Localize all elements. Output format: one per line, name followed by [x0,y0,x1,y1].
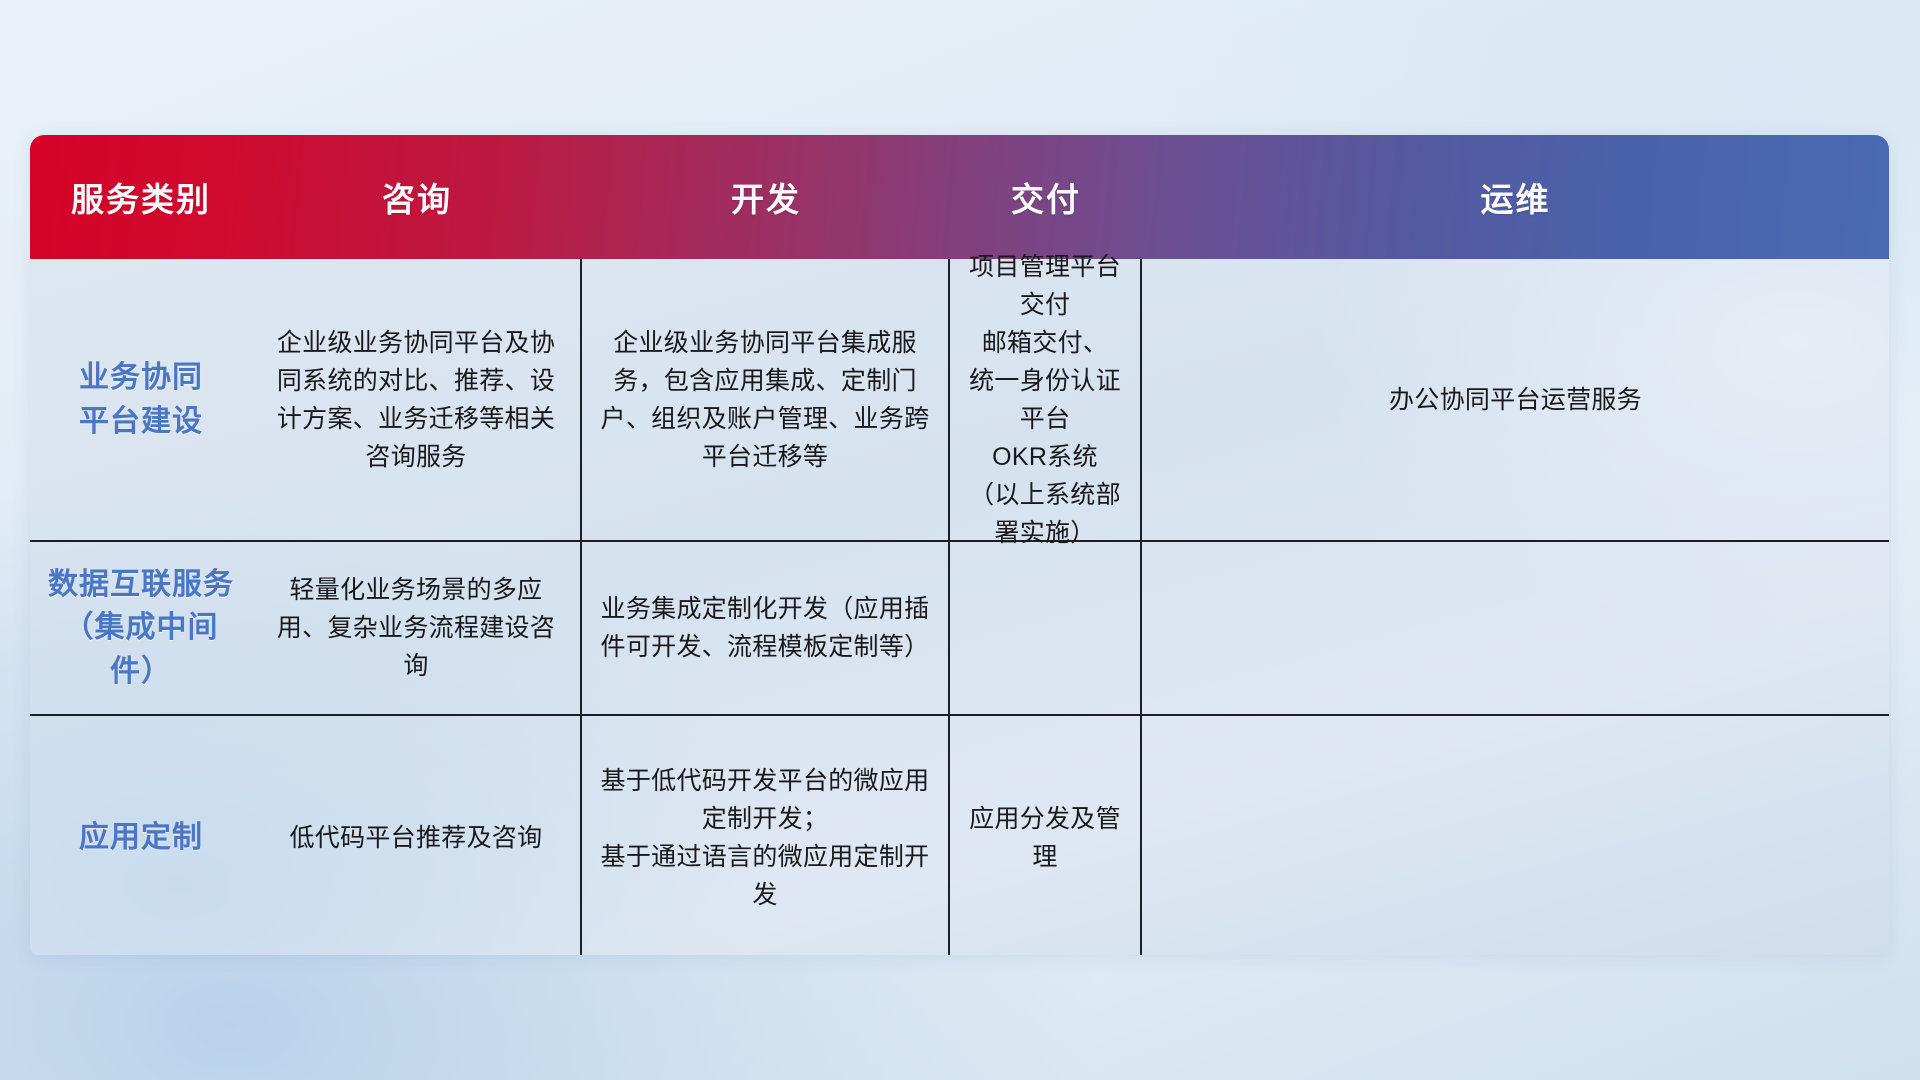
cell-text: 项目管理平台交付 邮箱交付、 统一身份认证平台 OKR系统 （以上系统部署实施） [964,248,1126,552]
cell-operations: 办公协同平台运营服务 [1142,259,1889,540]
cell-operations [1142,542,1889,714]
cell-text: 企业级业务协同平台及协同系统的对比、推荐、设计方案、业务迁移等相关咨询服务 [266,324,566,476]
cell-development: 基于低代码开发平台的微应用定制开发； 基于通过语言的微应用定制开发 [582,716,950,955]
row-label-business-collaboration: 业务协同 平台建设 [79,356,203,443]
cell-text: 办公协同平台运营服务 [1389,381,1642,419]
cell-text: 低代码平台推荐及咨询 [289,819,542,857]
table-body: 业务协同 平台建设 企业级业务协同平台及协同系统的对比、推荐、设计方案、业务迁移… [30,259,1889,955]
row-label-cell: 业务协同 平台建设 [30,259,252,540]
table-row: 数据互联服务 （集成中间件） 轻量化业务场景的多应用、复杂业务流程建设咨询 业务… [30,542,1889,716]
service-matrix-table: 服务类别 咨询 开发 交付 运维 业务协同 平台建设 企业级业务协同平台及协同系… [30,135,1889,955]
table-header-row: 服务类别 咨询 开发 交付 运维 [30,135,1889,259]
slide-canvas: 服务类别 咨询 开发 交付 运维 业务协同 平台建设 企业级业务协同平台及协同系… [0,0,1920,1080]
cell-development: 业务集成定制化开发（应用插件可开发、流程模板定制等） [582,542,950,714]
column-header-service-category: 服务类别 [30,173,252,221]
cell-text: 应用分发及管理 [964,800,1126,876]
cell-delivery: 项目管理平台交付 邮箱交付、 统一身份认证平台 OKR系统 （以上系统部署实施） [950,259,1142,540]
cell-consulting: 轻量化业务场景的多应用、复杂业务流程建设咨询 [252,542,582,714]
cell-development: 企业级业务协同平台集成服务，包含应用集成、定制门户、组织及账户管理、业务跨平台迁… [582,259,950,540]
cell-consulting: 低代码平台推荐及咨询 [252,716,582,955]
row-label-cell: 应用定制 [30,716,252,955]
cell-text: 业务集成定制化开发（应用插件可开发、流程模板定制等） [596,590,934,666]
table-row: 应用定制 低代码平台推荐及咨询 基于低代码开发平台的微应用定制开发； 基于通过语… [30,716,1889,955]
cell-operations [1142,716,1889,955]
cell-delivery [950,542,1142,714]
table-row: 业务协同 平台建设 企业级业务协同平台及协同系统的对比、推荐、设计方案、业务迁移… [30,259,1889,542]
column-header-delivery: 交付 [950,173,1142,221]
row-label-cell: 数据互联服务 （集成中间件） [30,542,252,714]
column-header-development: 开发 [582,173,950,221]
row-label-app-customization: 应用定制 [79,816,203,860]
cell-text: 轻量化业务场景的多应用、复杂业务流程建设咨询 [266,571,566,685]
cell-consulting: 企业级业务协同平台及协同系统的对比、推荐、设计方案、业务迁移等相关咨询服务 [252,259,582,540]
cell-text: 企业级业务协同平台集成服务，包含应用集成、定制门户、组织及账户管理、业务跨平台迁… [596,324,934,476]
column-header-operations: 运维 [1142,173,1889,221]
row-label-data-integration: 数据互联服务 （集成中间件） [44,563,238,694]
cell-delivery: 应用分发及管理 [950,716,1142,955]
column-header-consulting: 咨询 [252,173,582,221]
cell-text: 基于低代码开发平台的微应用定制开发； 基于通过语言的微应用定制开发 [596,762,934,914]
